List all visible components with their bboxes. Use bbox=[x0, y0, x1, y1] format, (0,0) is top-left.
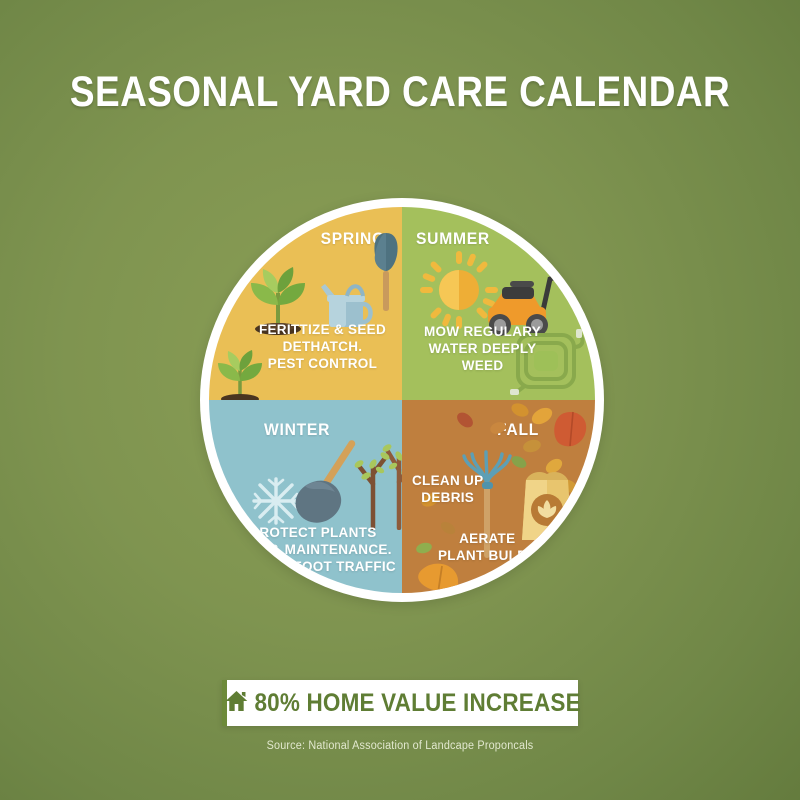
task-line: PEST CONTROL bbox=[259, 355, 386, 372]
home-value-text: 80% HOME VALUE INCREASE bbox=[254, 689, 580, 717]
source-credit: Source: National Association of Landcape… bbox=[24, 740, 776, 752]
quadrant-tasks-fall-bottom: AERATE PLANT BULBS bbox=[438, 530, 537, 564]
task-line: DEBRIS bbox=[412, 489, 483, 506]
task-line: CLEAN UP bbox=[412, 472, 483, 489]
task-line: WATER DEEPLY bbox=[424, 340, 541, 357]
poster-canvas: SEASONAL YARD CARE CALENDAR SPRING bbox=[0, 0, 800, 800]
task-line: EQUIP. MAINTENANCE. bbox=[231, 541, 396, 558]
seasonal-wheel: SPRING bbox=[200, 198, 604, 602]
task-line: DETHATCH. bbox=[259, 338, 386, 355]
task-line: PROTECT PLANTS bbox=[231, 524, 396, 541]
quadrant-fall[interactable]: FALL bbox=[402, 400, 595, 593]
task-line: FERITTIZE & SEED bbox=[259, 321, 386, 338]
quadrant-summer[interactable]: SUMMER bbox=[402, 207, 595, 400]
task-line: AERATE bbox=[438, 530, 537, 547]
task-line: WEED bbox=[424, 357, 541, 374]
wheel-quadrants: SPRING bbox=[209, 207, 595, 593]
task-line: PLANT BULBS bbox=[438, 547, 537, 564]
quadrant-tasks-spring: FERITTIZE & SEED DETHATCH. PEST CONTROL bbox=[259, 321, 386, 372]
quadrant-label-summer: SUMMER bbox=[416, 229, 490, 249]
page-title: SEASONAL YARD CARE CALENDAR bbox=[56, 68, 744, 117]
home-value-banner[interactable]: 80% HOME VALUE INCREASE bbox=[222, 680, 578, 726]
task-line: REDUCE FOOT TRAFFIC bbox=[231, 558, 396, 575]
house-icon bbox=[225, 689, 248, 713]
quadrant-tasks-winter: PROTECT PLANTS EQUIP. MAINTENANCE. REDUC… bbox=[231, 524, 396, 575]
quadrant-winter[interactable]: WINTER bbox=[209, 400, 402, 593]
bare-tree-icon bbox=[351, 424, 402, 530]
quadrant-tasks-summer: MOW REGULARY WATER DEEPLY WEED bbox=[424, 323, 541, 374]
quadrant-tasks-fall-top: CLEAN UP DEBRIS bbox=[412, 472, 483, 506]
trowel-icon bbox=[369, 229, 402, 313]
quadrant-spring[interactable]: SPRING bbox=[209, 207, 402, 400]
task-line: MOW REGULARY bbox=[424, 323, 541, 340]
home-value-stat: 80% HOME VALUE INCREASE bbox=[225, 689, 581, 718]
